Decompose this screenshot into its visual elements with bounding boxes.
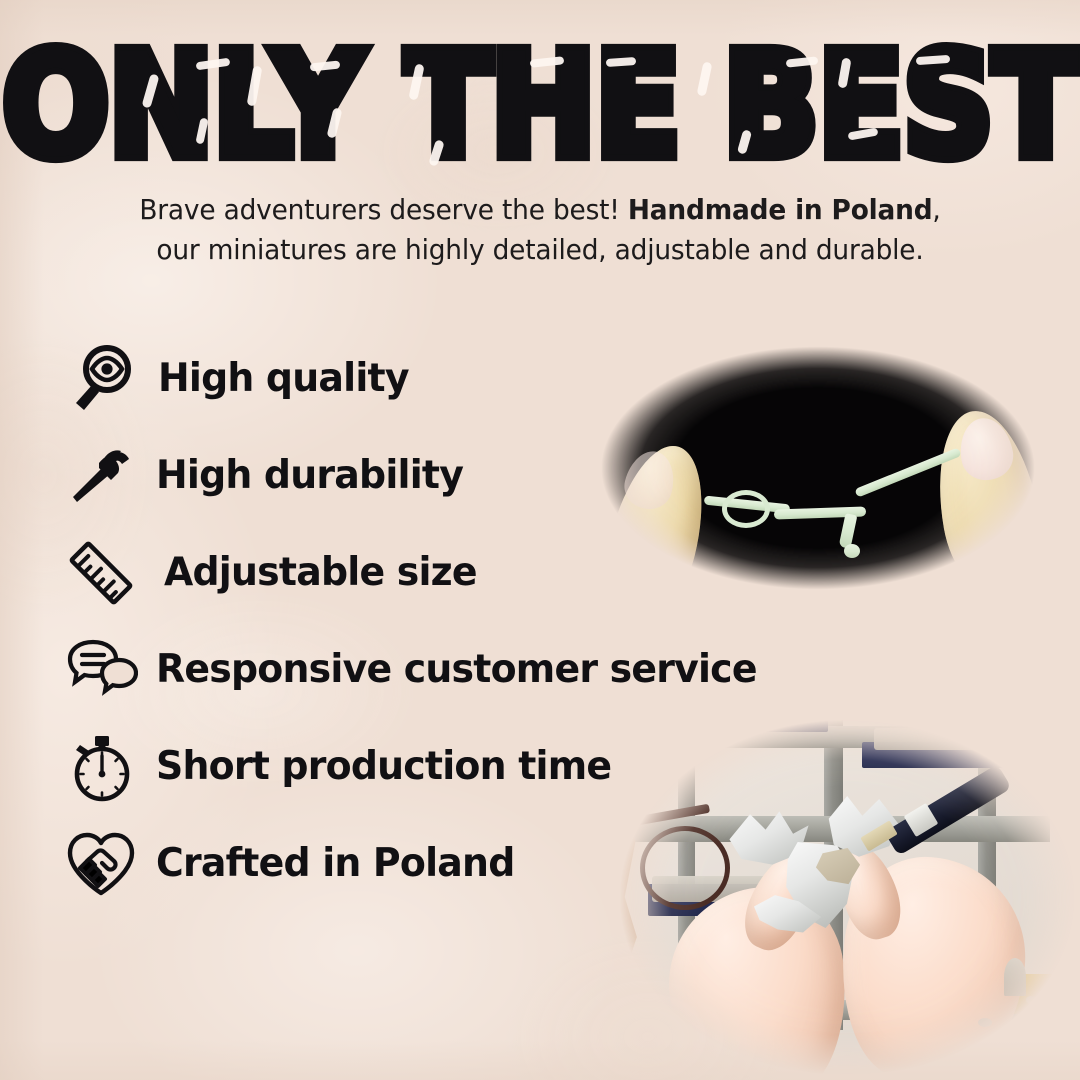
subtitle: Brave adventurers deserve the best! Hand… xyxy=(22,190,1059,270)
photo-flexing-miniature xyxy=(556,318,1080,618)
photo-top-spatter-4 xyxy=(618,334,624,340)
photo-bottom-clutter-2 xyxy=(744,704,814,718)
feature-label-high-durability: High durability xyxy=(156,453,463,498)
photo-bottom-eyeglasses-lens xyxy=(640,826,730,910)
photo-bottom-debris-2 xyxy=(978,1018,992,1027)
feature-label-high-quality: High quality xyxy=(158,356,409,401)
heart-handshake-icon xyxy=(62,825,140,903)
photo-bottom-speckle-2 xyxy=(614,824,621,831)
chat-bubbles-icon xyxy=(62,631,140,709)
photo-bottom-clutter-1 xyxy=(874,728,1000,750)
photo-workshop-painting xyxy=(574,700,1080,1080)
photo-top-miniature-loop xyxy=(722,490,770,528)
headline-block: ONLY THE BEST xyxy=(0,0,1080,185)
subtitle-line-2: our miniatures are highly detailed, adju… xyxy=(22,230,1059,270)
photo-top-miniature-tip xyxy=(844,544,860,558)
feature-label-adjustable-size: Adjustable size xyxy=(164,550,477,595)
subtitle-line-1-suffix: , xyxy=(932,194,940,226)
hammer-icon xyxy=(62,437,140,515)
photo-bottom-dragon-miniature xyxy=(726,792,906,948)
page-title: ONLY THE BEST xyxy=(0,34,1080,178)
photo-bottom-speckle-4 xyxy=(904,720,913,727)
feature-label-production-time: Short production time xyxy=(156,744,611,789)
magnifier-eye-icon xyxy=(62,340,140,418)
photo-bottom-small-figure xyxy=(1004,958,1026,996)
feature-label-customer-service: Responsive customer service xyxy=(156,647,757,692)
stopwatch-icon xyxy=(62,728,140,806)
photo-top-rag-3 xyxy=(926,318,1066,368)
photo-top-rag-4 xyxy=(676,573,876,618)
photo-bottom-debris-1 xyxy=(1026,996,1036,1004)
photo-top-spatter-3 xyxy=(574,468,580,474)
photo-top-spatter-7 xyxy=(806,604,812,610)
poster-canvas: ONLY THE BEST Brave adventurers deserve … xyxy=(0,0,1080,1080)
subtitle-line-1-bold: Handmade in Poland xyxy=(628,194,933,226)
subtitle-line-1-prefix: Brave adventurers deserve the best! xyxy=(139,194,628,226)
subtitle-line-1: Brave adventurers deserve the best! Hand… xyxy=(22,190,1059,230)
photo-top-spatter-1 xyxy=(580,372,587,379)
photo-top-spatter-2 xyxy=(592,408,597,413)
photo-top-spatter-6 xyxy=(1022,438,1028,444)
photo-bottom-speckle-3 xyxy=(664,1040,675,1048)
photo-bottom-speckle-1 xyxy=(634,760,643,767)
photo-top-rag-2 xyxy=(596,318,756,374)
feature-label-crafted-in-poland: Crafted in Poland xyxy=(156,841,515,886)
ruler-icon xyxy=(62,534,140,612)
photo-top-spatter-5 xyxy=(856,326,861,331)
